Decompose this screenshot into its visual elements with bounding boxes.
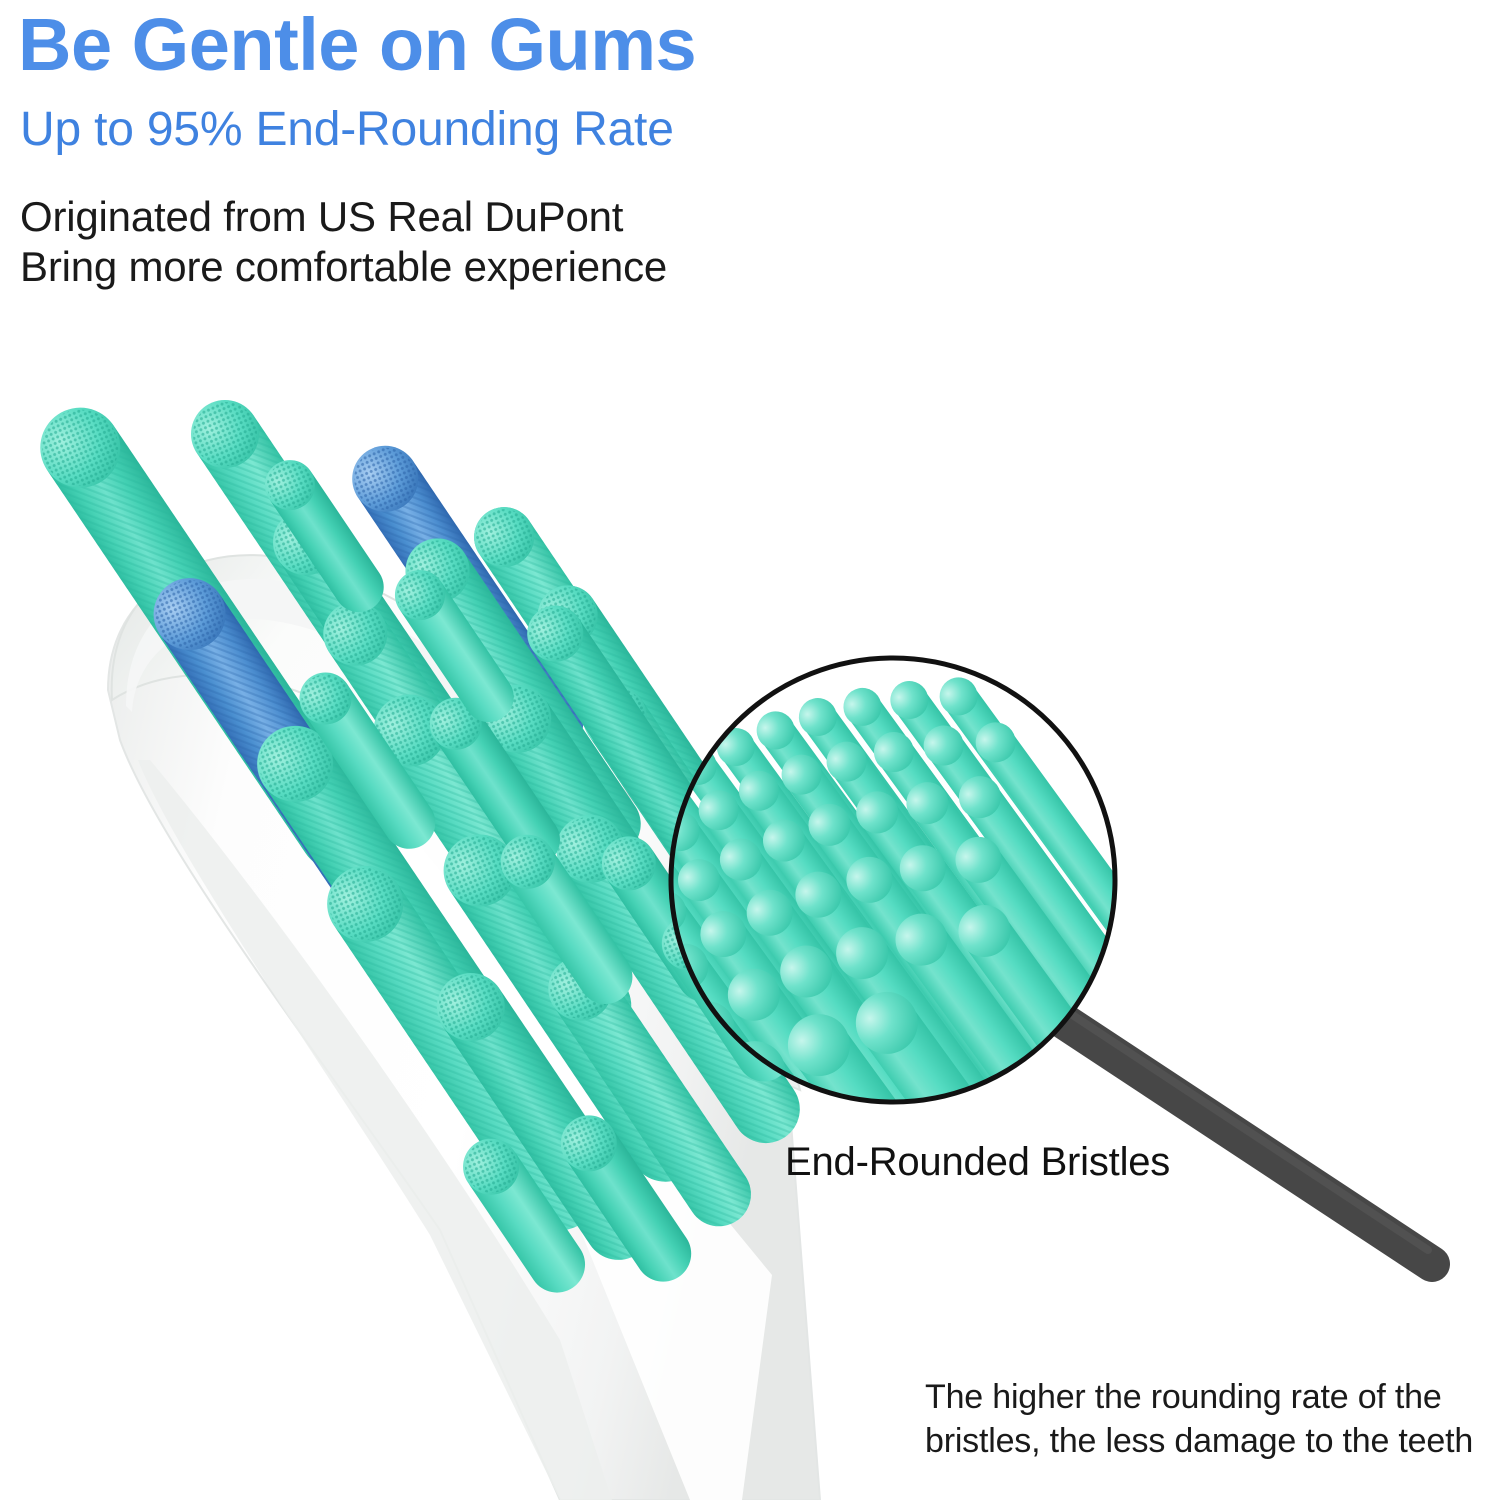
- product-feature-image: Be Gentle on Gums Up to 95% End-Rounding…: [0, 0, 1490, 1500]
- explanatory-note: The higher the rounding rate of the bris…: [925, 1375, 1485, 1463]
- note-line-1: The higher the rounding rate of the: [925, 1375, 1485, 1419]
- body-copy: Originated from US Real DuPont Bring mor…: [20, 192, 667, 291]
- magnifier-handle: [1062, 1012, 1432, 1264]
- note-line-2: bristles, the less damage to the teeth: [925, 1419, 1485, 1463]
- subtitle: Up to 95% End-Rounding Rate: [20, 104, 674, 157]
- body-copy-line-1: Originated from US Real DuPont: [20, 192, 667, 242]
- magnifier-caption: End-Rounded Bristles: [785, 1140, 1170, 1185]
- body-copy-line-2: Bring more comfortable experience: [20, 242, 667, 292]
- page-title: Be Gentle on Gums: [18, 6, 696, 84]
